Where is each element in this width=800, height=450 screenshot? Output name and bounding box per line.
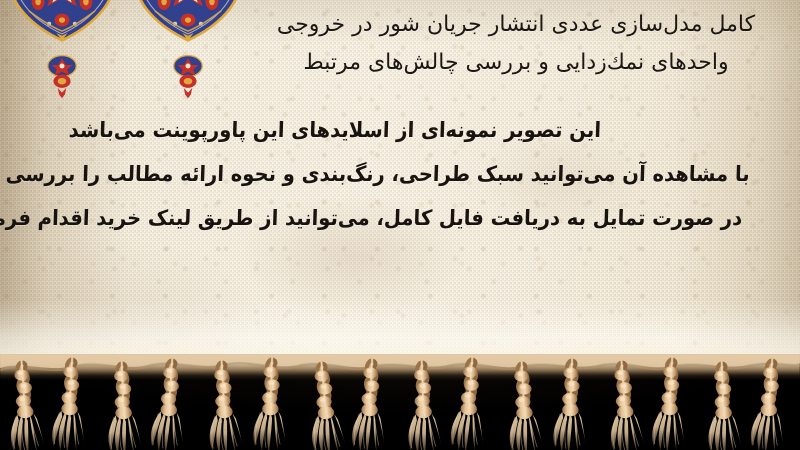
persian-medallion-ornament-left [6,0,118,108]
slide-title: کامل مدل‌سازی عددی انتشار جریان شور در خ… [250,6,782,82]
title-line-1: کامل مدل‌سازی عددی انتشار جریان شور در خ… [250,6,782,44]
carpet-fringe-band [0,354,800,450]
body-line-3: در صورت تمایل به دریافت فایل کامل، می‌تو… [40,196,759,240]
persian-medallion-ornament-right [132,0,244,108]
body-line-1: این تصویر نمونه‌ای از اسلایدهای این پاور… [40,108,759,152]
body-line-2: با مشاهده آن می‌توانید سبک طراحی، رنگ‌بن… [40,152,759,196]
title-line-2: واحدهای نمك‌زدایی و بررسی چالش‌های مرتبط [250,44,782,82]
presentation-slide: کامل مدل‌سازی عددی انتشار جریان شور در خ… [0,0,800,450]
fringe-tassels-group [0,354,800,450]
slide-body-text: این تصویر نمونه‌ای از اسلایدهای این پاور… [14,108,786,240]
